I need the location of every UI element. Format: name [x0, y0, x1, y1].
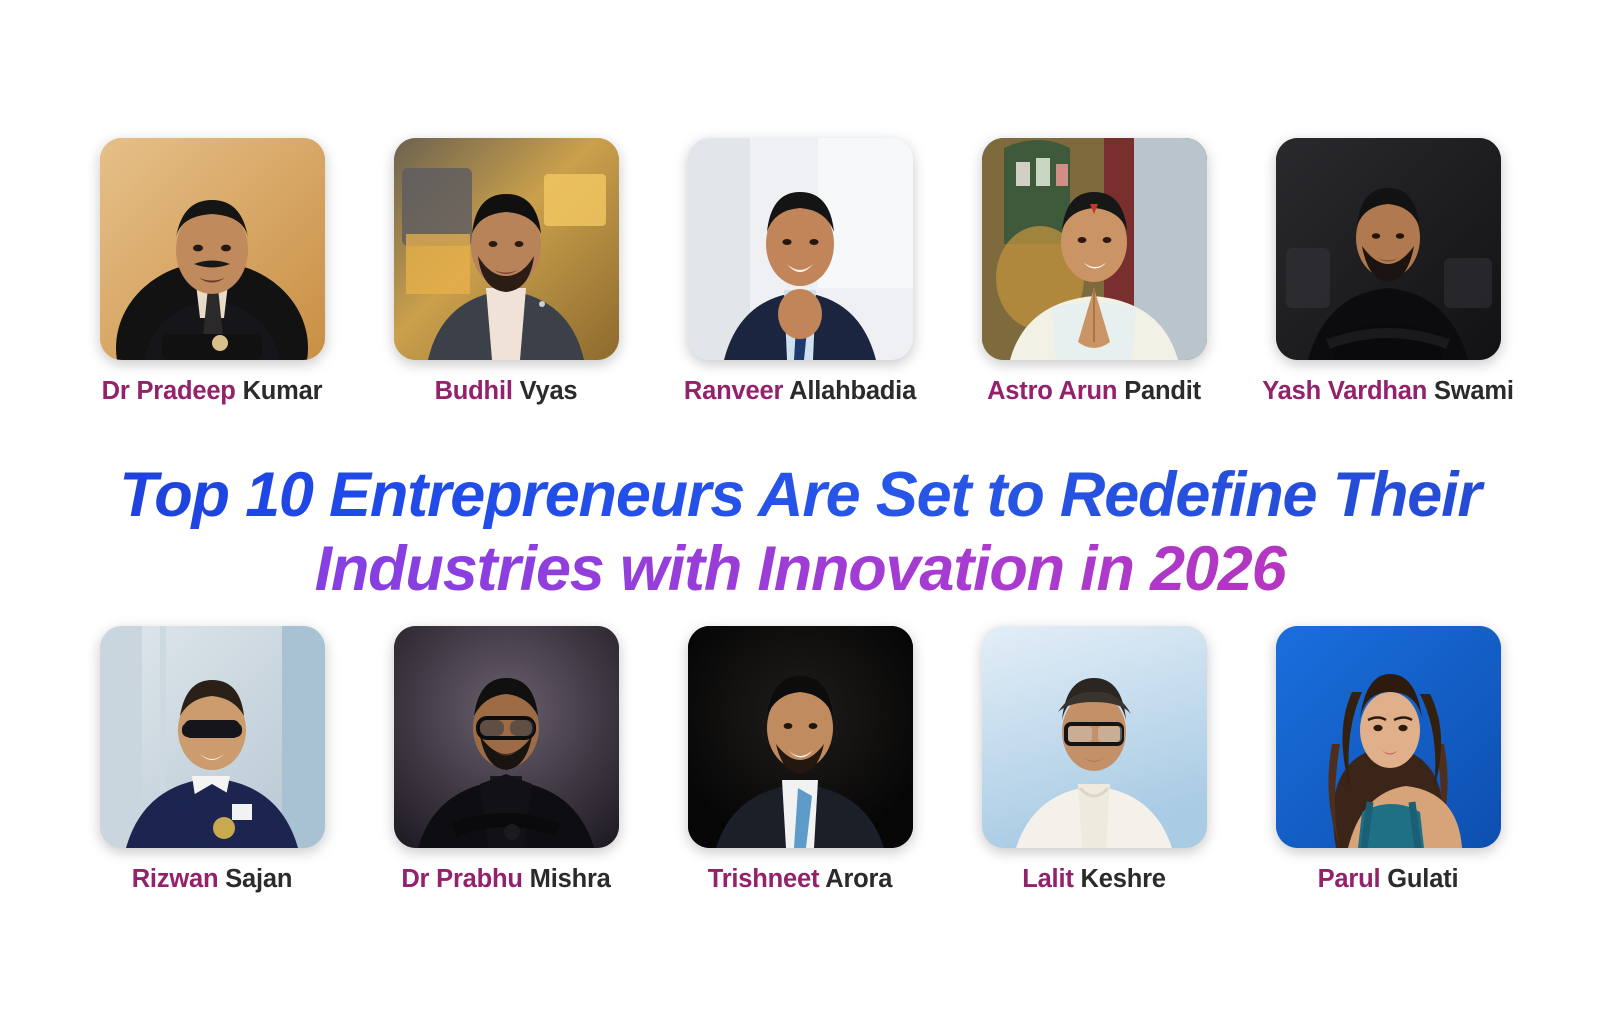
entrepreneur-name-last: Swami [1434, 377, 1514, 405]
entrepreneur-name-first: Budhil [435, 377, 520, 405]
top-entrepreneur-row: Dr Pradeep Kumar Budhil Vyas [40, 0, 1560, 406]
entrepreneur-card[interactable]: Ranveer Allahbadia [678, 138, 922, 406]
entrepreneur-card[interactable]: Trishneet Arora [678, 626, 922, 894]
entrepreneur-name-first: Lalit [1022, 865, 1080, 893]
entrepreneur-name-last: Sajan [225, 865, 292, 893]
entrepreneur-card[interactable]: Astro Arun Pandit [972, 138, 1216, 406]
entrepreneur-name-first: Yash Vardhan [1262, 377, 1434, 405]
entrepreneur-name: Budhil Vyas [435, 377, 578, 406]
entrepreneur-name-first: Trishneet [708, 865, 826, 893]
entrepreneur-name: Dr Prabhu Mishra [401, 865, 610, 894]
entrepreneur-name-first: Dr Pradeep [102, 377, 243, 405]
portrait-dr-pradeep-kumar[interactable] [100, 138, 325, 360]
portrait-trishneet-arora[interactable] [688, 626, 913, 848]
entrepreneur-card[interactable]: Budhil Vyas [384, 138, 628, 406]
page-title: Top 10 Entrepreneurs Are Set to Redefine… [0, 458, 1600, 607]
entrepreneur-name-last: Gulati [1387, 865, 1458, 893]
entrepreneur-card[interactable]: Yash Vardhan Swami [1266, 138, 1510, 406]
portrait-yash-vardhan-swami[interactable] [1276, 138, 1501, 360]
entrepreneur-card[interactable]: Dr Prabhu Mishra [384, 626, 628, 894]
entrepreneur-name: Dr Pradeep Kumar [102, 377, 323, 406]
entrepreneur-name-last: Mishra [530, 865, 611, 893]
portrait-rizwan-sajan[interactable] [100, 626, 325, 848]
entrepreneur-name: Rizwan Sajan [132, 865, 293, 894]
portrait-lalit-keshre[interactable] [982, 626, 1207, 848]
entrepreneur-name-last: Keshre [1081, 865, 1166, 893]
entrepreneur-card[interactable]: Rizwan Sajan [90, 626, 334, 894]
entrepreneur-name: Yash Vardhan Swami [1262, 377, 1514, 406]
entrepreneur-name-first: Parul [1318, 865, 1388, 893]
entrepreneur-name: Ranveer Allahbadia [684, 377, 916, 406]
entrepreneur-name: Lalit Keshre [1022, 865, 1166, 894]
entrepreneur-name-last: Vyas [520, 377, 578, 405]
portrait-budhil-vyas[interactable] [394, 138, 619, 360]
entrepreneur-name-first: Astro Arun [987, 377, 1124, 405]
entrepreneur-name-last: Allahbadia [789, 377, 916, 405]
headline-line-2: Industries with Innovation in 2026 [0, 532, 1600, 606]
headline-line-1: Top 10 Entrepreneurs Are Set to Redefine… [0, 458, 1600, 532]
bottom-entrepreneur-row: Rizwan Sajan Dr Prabhu Mishra [40, 606, 1560, 894]
entrepreneur-name-first: Ranveer [684, 377, 789, 405]
entrepreneur-card[interactable]: Parul Gulati [1266, 626, 1510, 894]
entrepreneur-name: Parul Gulati [1318, 865, 1459, 894]
entrepreneur-name-last: Arora [825, 865, 892, 893]
entrepreneur-name-last: Pandit [1124, 377, 1201, 405]
entrepreneur-card[interactable]: Lalit Keshre [972, 626, 1216, 894]
portrait-astro-arun-pandit[interactable] [982, 138, 1207, 360]
entrepreneur-name-first: Dr Prabhu [401, 865, 529, 893]
entrepreneur-name: Trishneet Arora [708, 865, 893, 894]
entrepreneur-name-first: Rizwan [132, 865, 226, 893]
entrepreneur-name-last: Kumar [243, 377, 323, 405]
entrepreneur-name: Astro Arun Pandit [987, 377, 1201, 406]
portrait-parul-gulati[interactable] [1276, 626, 1501, 848]
entrepreneur-card[interactable]: Dr Pradeep Kumar [90, 138, 334, 406]
poster-canvas: Dr Pradeep Kumar Budhil Vyas [0, 0, 1600, 1024]
portrait-ranveer-allahbadia[interactable] [688, 138, 913, 360]
portrait-dr-prabhu-mishra[interactable] [394, 626, 619, 848]
